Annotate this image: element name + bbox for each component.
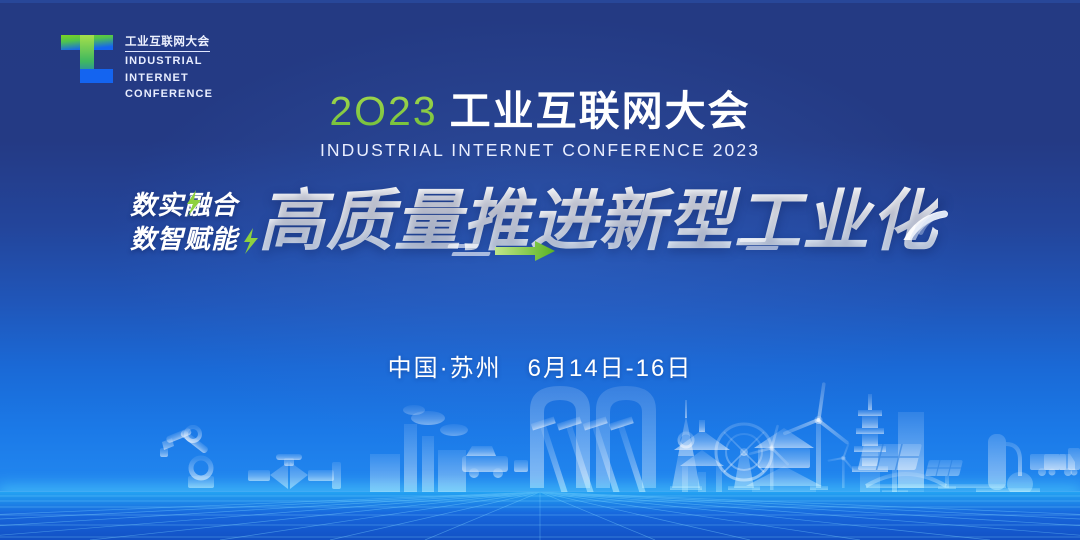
lightning-bolt-icon-2 bbox=[242, 228, 262, 254]
title-chinese: 工业互联网大会 bbox=[450, 88, 751, 134]
forward-arrow-icon bbox=[495, 240, 555, 262]
conference-logo-icon bbox=[58, 30, 116, 88]
conference-subtitle: INDUSTRIAL INTERNET CONFERENCE 2023 bbox=[0, 140, 1080, 161]
conference-title-block: 2O23工业互联网大会 INDUSTRIAL INTERNET CONFEREN… bbox=[0, 88, 1080, 161]
logo-english-line-2: INTERNET bbox=[125, 72, 213, 86]
wifi-signal-icon bbox=[888, 168, 960, 240]
top-border-line bbox=[0, 0, 1080, 3]
skyline-secondary-layer bbox=[0, 376, 1080, 496]
speed-streak-3 bbox=[739, 238, 766, 242]
slogan-secondary-line-1: 数实融合 bbox=[130, 188, 238, 222]
speed-streak-4 bbox=[745, 246, 778, 250]
cargo-train-icon bbox=[1044, 448, 1080, 476]
logo-english-line-1: INDUSTRIAL bbox=[125, 55, 213, 69]
slogan-secondary: 数实融合 数智赋能 bbox=[130, 188, 238, 256]
speed-streak-1 bbox=[447, 244, 478, 248]
lightning-bolt-icon-1 bbox=[185, 190, 205, 216]
logo-chinese-name: 工业互联网大会 bbox=[125, 35, 210, 52]
speed-streak-2 bbox=[451, 252, 490, 256]
perspective-grid-ground bbox=[0, 492, 1080, 540]
conference-poster: 工业互联网大会 INDUSTRIAL INTERNET CONFERENCE 2… bbox=[0, 0, 1080, 540]
conference-title: 2O23工业互联网大会 bbox=[0, 88, 1080, 134]
title-year: 2O23 bbox=[329, 88, 437, 134]
slogan-secondary-line-2: 数智赋能 bbox=[130, 222, 238, 256]
sea-bridge-icon bbox=[866, 468, 1006, 488]
slogan-main: 高质量推进新型工业化 bbox=[258, 174, 938, 270]
